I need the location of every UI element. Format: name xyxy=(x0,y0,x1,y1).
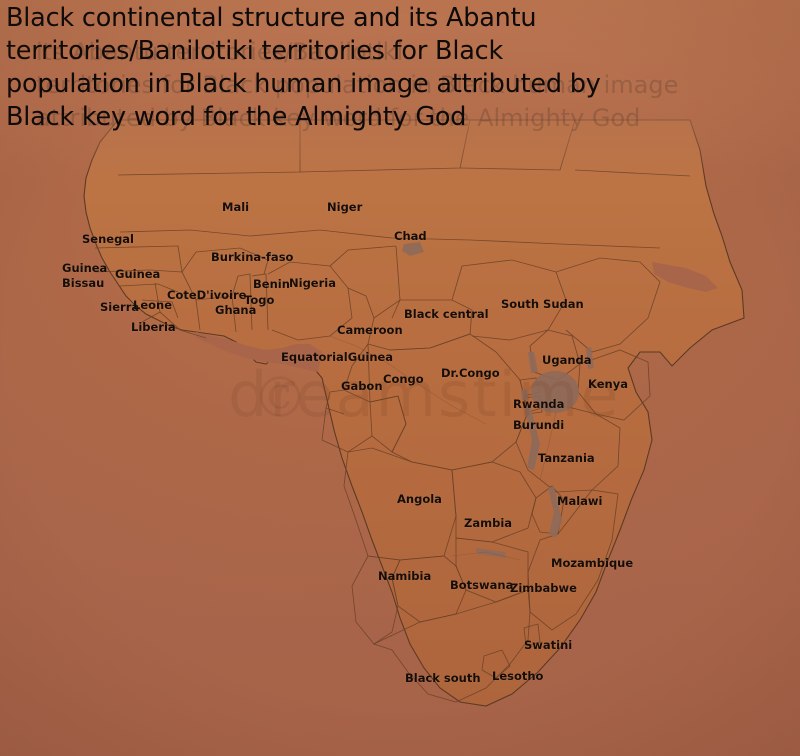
title-line-2: territories/Banilotiki territories for B… xyxy=(6,35,800,68)
map-canvas: © dreamstime its Abantu territories/Bani… xyxy=(0,0,800,756)
title-line-4: Black key word for the Almighty God xyxy=(6,101,800,134)
page-title: Black continental structure and its Aban… xyxy=(0,0,800,134)
title-line-1: Black continental structure and its Aban… xyxy=(6,2,800,35)
lake-kivu xyxy=(521,389,528,400)
lake-victoria xyxy=(531,371,579,413)
title-line-3: population in Black human image attribut… xyxy=(6,68,800,101)
